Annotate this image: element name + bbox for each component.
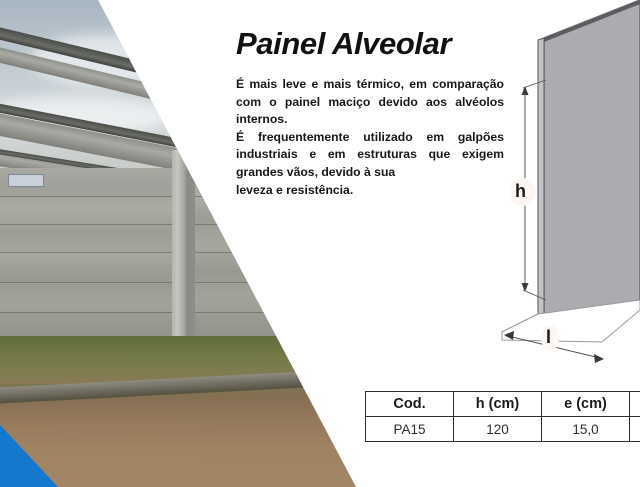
length-arrow-right <box>594 354 604 363</box>
construction-photo <box>0 0 360 487</box>
specification-table-container: Cod. h (cm) e (cm) PA15 120 15,0 <box>365 391 640 442</box>
table-header-e: e (cm) <box>542 392 630 417</box>
description-paragraph-2: É frequentemente utilizado em galpões in… <box>236 129 504 182</box>
page-title: Painel Alveolar <box>236 26 451 62</box>
concrete-column <box>172 150 186 340</box>
table-header-h: h (cm) <box>454 392 542 417</box>
table-cell-e: 15,0 <box>542 417 630 442</box>
table-cell-extra <box>630 417 640 442</box>
description-paragraph-3: leveza e resistência. <box>236 182 504 200</box>
height-label: h <box>515 181 526 202</box>
length-label: l <box>546 327 551 348</box>
specification-table: Cod. h (cm) e (cm) PA15 120 15,0 <box>365 391 640 442</box>
grass-strip <box>0 336 360 384</box>
table-header-cod: Cod. <box>366 392 454 417</box>
table-header-extra <box>630 392 640 417</box>
table-cell-cod: PA15 <box>366 417 454 442</box>
panel-face-shape <box>544 0 640 318</box>
description-paragraph-1: É mais leve e mais térmico, em comparaçã… <box>236 76 504 129</box>
photo-background <box>0 0 360 487</box>
table-cell-h: 120 <box>454 417 542 442</box>
wall-sign <box>8 174 44 187</box>
panel-dimension-diagram: h l <box>496 0 640 380</box>
panel-thickness-shape <box>538 38 544 318</box>
description-text: É mais leve e mais térmico, em comparaçã… <box>236 76 504 199</box>
table-header-row: Cod. h (cm) e (cm) <box>366 392 640 417</box>
concrete-column <box>186 150 195 340</box>
slide-canvas: Painel Alveolar É mais leve e mais térmi… <box>0 0 640 487</box>
table-row: PA15 120 15,0 <box>366 417 640 442</box>
